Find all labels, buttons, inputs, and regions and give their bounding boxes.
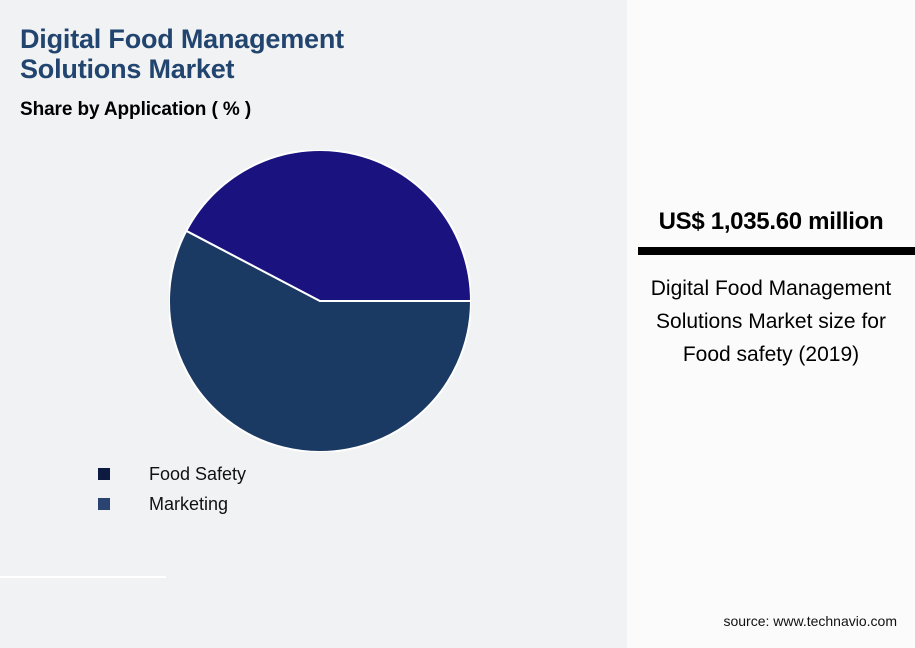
- chart-legend: Food Safety Marketing: [98, 463, 246, 515]
- source-note: source: www.technavio.com: [627, 613, 915, 629]
- footer-divider: [0, 576, 166, 578]
- kpi-value: US$ 1,035.60 million: [627, 208, 915, 236]
- chart-canvas: Digital Food Management Solutions Market…: [0, 0, 915, 648]
- legend-label-food-safety: Food Safety: [149, 464, 246, 485]
- page-title: Digital Food Management Solutions Market: [20, 24, 600, 84]
- pie-chart-svg: [169, 150, 471, 452]
- pie-slice-group: [169, 150, 471, 452]
- chart-subtitle: Share by Application ( % ): [20, 99, 251, 121]
- legend-label-marketing: Marketing: [149, 494, 228, 515]
- legend-item-marketing[interactable]: Marketing: [98, 493, 246, 515]
- kpi-divider: [638, 247, 915, 255]
- legend-swatch-marketing: [98, 498, 110, 510]
- kpi-caption: Digital Food Management Solutions Market…: [641, 272, 901, 371]
- chart-panel: Digital Food Management Solutions Market…: [0, 0, 627, 648]
- pie-chart: [169, 150, 471, 452]
- kpi-panel: US$ 1,035.60 million Digital Food Manage…: [627, 0, 915, 648]
- legend-swatch-food-safety: [98, 468, 110, 480]
- chart-title-line-2: Solutions Market: [20, 54, 234, 84]
- chart-title-line-1: Digital Food Management: [20, 24, 344, 54]
- legend-item-food-safety[interactable]: Food Safety: [98, 463, 246, 485]
